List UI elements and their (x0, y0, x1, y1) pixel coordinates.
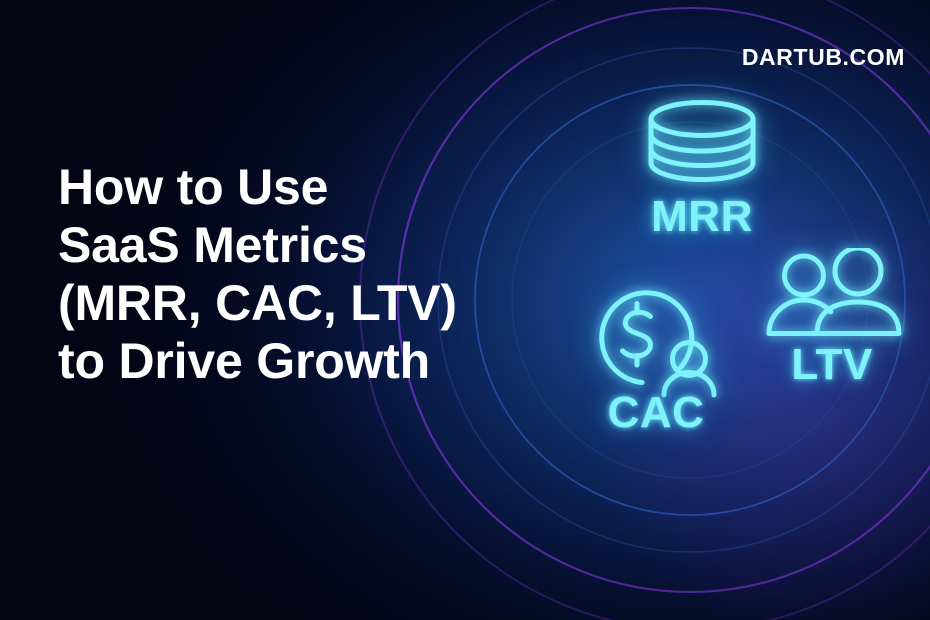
two-people-icon (762, 248, 902, 353)
metric-ltv-label: LTV (752, 340, 912, 390)
metric-cac: CAC (566, 278, 746, 448)
metrics-cluster: MRR CAC (0, 0, 930, 620)
metric-cac-label: CAC (566, 388, 746, 438)
database-stack-icon (638, 100, 766, 197)
metric-mrr-label: MRR (612, 192, 792, 242)
metric-mrr: MRR (612, 100, 792, 250)
thumbnail-canvas: How to Use SaaS Metrics (MRR, CAC, LTV) … (0, 0, 930, 620)
dollar-circle-person-icon (584, 278, 730, 405)
metric-ltv: LTV (752, 248, 912, 408)
